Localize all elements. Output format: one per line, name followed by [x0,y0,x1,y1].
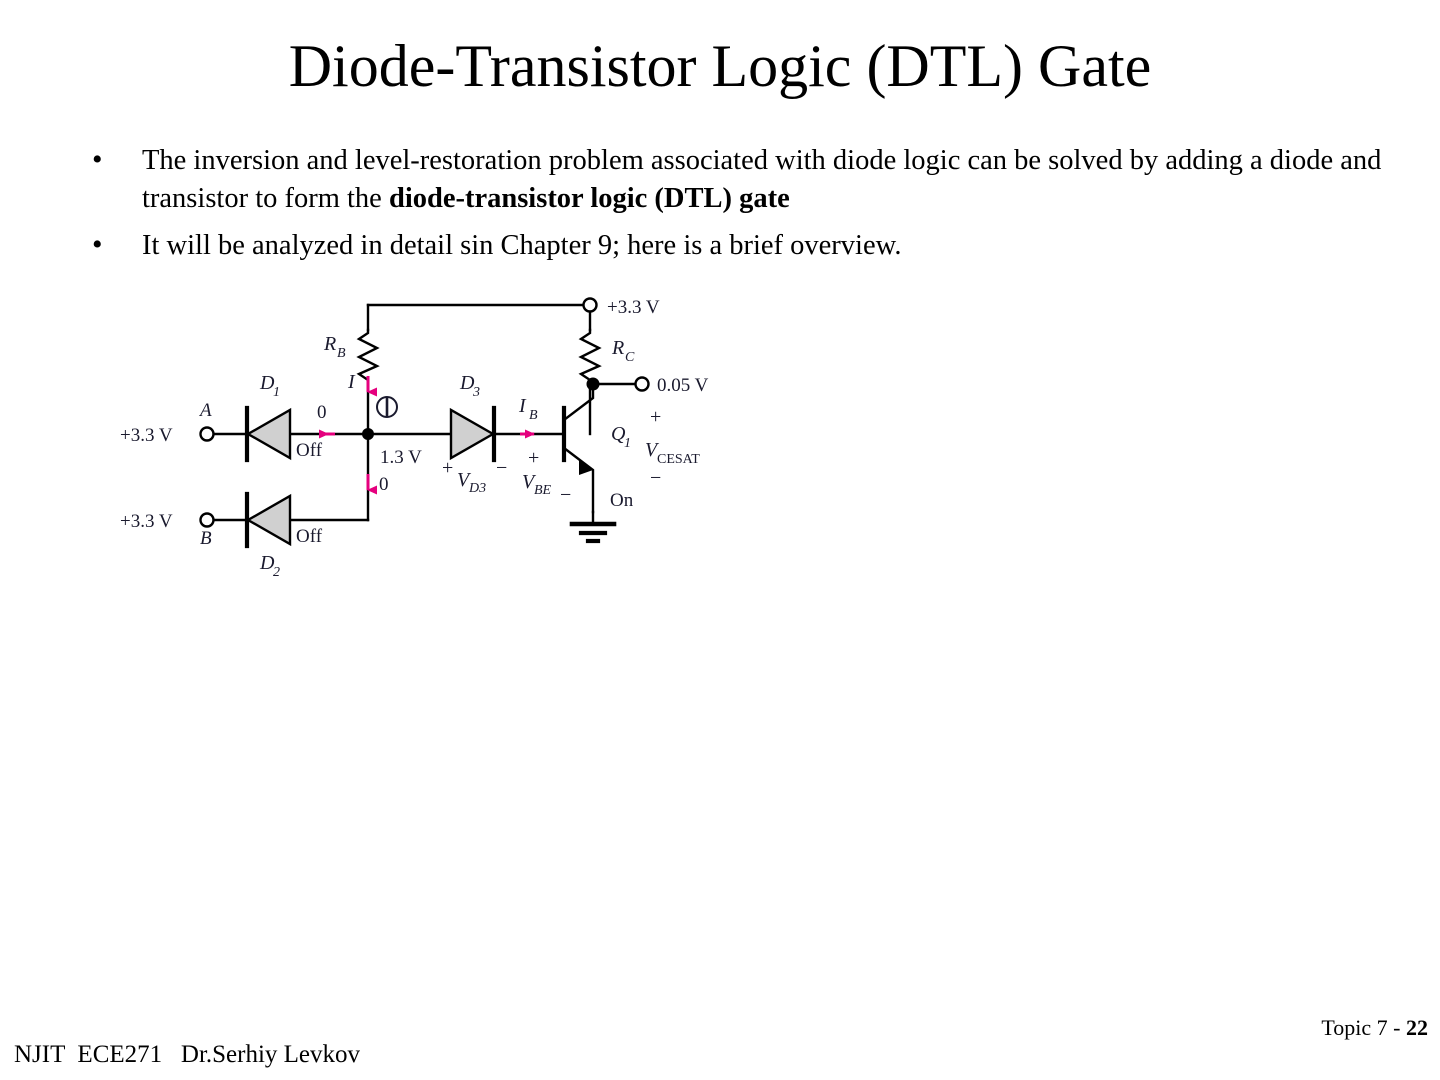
label-vcesat-subscript: CESAT [657,452,700,467]
terminal-circles [201,299,649,527]
label-rc: R [611,337,624,359]
terminal-input-a [201,428,214,441]
label-d2-subscript: 2 [273,565,280,580]
label-rb-subscript: B [337,346,346,361]
label-state-q1: On [610,490,634,511]
bullet-item-2: • It will be analyzed in detail sin Chap… [84,227,1394,265]
diode-d1-symbol [247,408,290,460]
footer-page-number: 22 [1406,1015,1428,1040]
node-marker-one [377,397,397,417]
dtl-gate-circuit-diagram: +3.3 V R B R C 0.05 V D 1 D 2 D 3 A B +3… [120,288,740,580]
label-zero-bottom: 0 [379,474,389,495]
bullet-text-1-bold: diode-transistor logic (DTL) gate [389,183,790,214]
page-title: Diode-Transistor Logic (DTL) Gate [0,30,1440,102]
footer-topic-label: Topic 7 - [1321,1015,1406,1040]
label-vbe-subscript: BE [534,483,552,498]
label-state-d1: Off [296,440,323,461]
bullet-list: • The inversion and level-restoration pr… [84,142,1394,274]
bullet-text-2-plain: It will be analyzed in detail sin Chapte… [142,230,901,261]
label-d1-subscript: 1 [273,385,280,400]
label-vd3-minus: − [496,457,507,479]
label-vbe-plus: + [528,447,539,469]
terminal-supply-top [584,299,597,312]
bullet-text-1: The inversion and level-restoration prob… [142,145,1381,214]
bullet-item-1: • The inversion and level-restoration pr… [84,142,1394,218]
label-vbe-minus: − [560,484,571,506]
diode-d3-symbol [451,408,494,460]
label-vcesat-minus: − [650,467,661,489]
label-node-b: B [200,528,212,549]
label-vd3-plus: + [442,457,453,479]
label-d3-subscript: 3 [472,385,480,400]
label-state-d2: Off [296,526,323,547]
footer-page-indicator: Topic 7 - 22 [1321,1014,1428,1042]
terminal-output [636,378,649,391]
label-current-ib-subscript: B [529,408,538,423]
label-zero-top: 0 [317,402,327,423]
label-rb: R [323,333,336,355]
label-rc-subscript: C [625,350,635,365]
ground-symbol [572,512,614,541]
label-supply-top: +3.3 V [607,297,660,318]
diode-d2-symbol [247,494,290,546]
bullet-marker-icon: • [92,141,103,179]
label-node-a: A [198,400,212,421]
label-input-a-voltage: +3.3 V [120,425,173,446]
label-output-voltage: 0.05 V [657,375,709,396]
label-vd3-subscript: D3 [468,481,486,496]
label-current-ib: I [518,395,527,417]
footer-course-info: NJIT ECE271 Dr.Serhiy Levkov [14,1040,360,1070]
bullet-text-2: It will be analyzed in detail sin Chapte… [142,230,901,261]
label-node-voltage: 1.3 V [380,447,422,468]
bullet-marker-icon: • [92,226,103,264]
top-supply-rail [368,305,590,330]
label-q1-subscript: 1 [624,436,631,451]
terminal-input-b [201,514,214,527]
label-vcesat-plus: + [650,406,661,428]
label-input-b-voltage: +3.3 V [120,511,173,532]
label-current-i: I [347,371,356,393]
